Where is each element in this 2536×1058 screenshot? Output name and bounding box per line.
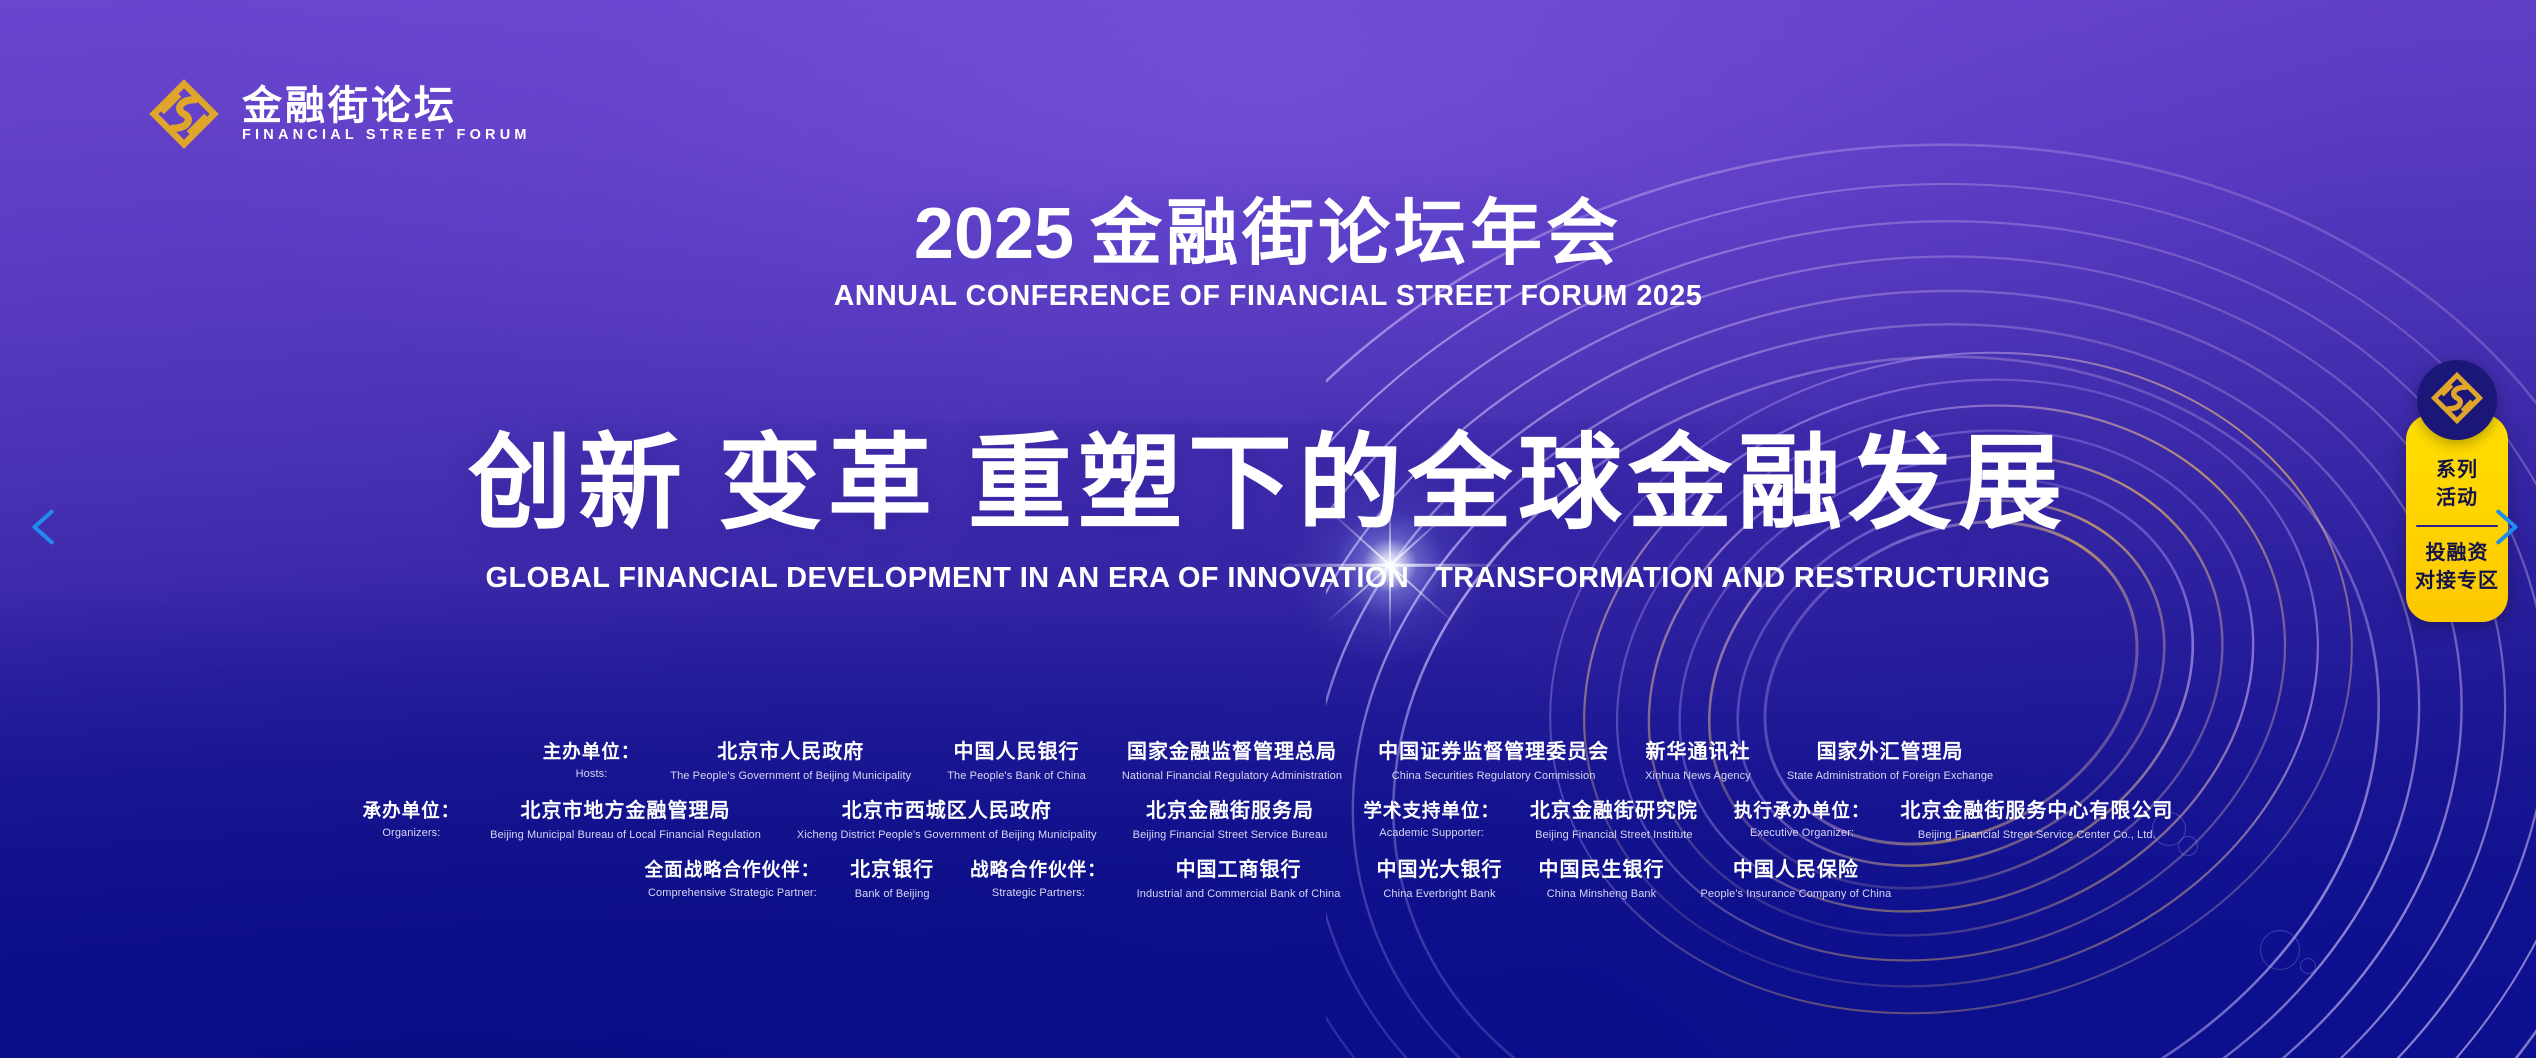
sponsor-name-en: The People's Bank of China [947,770,1086,783]
theme-en-part-2: TRANSFORMATION AND RESTRUCTURING [1435,562,2050,594]
sponsor-name-cn: 中国人民保险 [1733,858,1859,883]
sponsor-item: 国家金融监督管理总局 National Financial Regulatory… [1104,740,1360,783]
sponsor-name-cn: 全面战略合作伙伴： [645,858,821,881]
sponsor-name-cn: 中国光大银行 [1376,858,1502,883]
sponsor-name-cn: 执行承办单位： [1734,799,1871,822]
sponsor-name-en: Academic Supporter: [1379,827,1484,840]
site-logo[interactable]: 金融街论坛 FINANCIAL STREET FORUM [148,78,531,150]
theme-word-1: 创新 [468,426,688,542]
logo-name-en: FINANCIAL STREET FORUM [242,128,531,143]
sponsor-name-cn: 中国民生银行 [1538,858,1664,883]
event-year: 2025 [914,194,1074,274]
sponsor-item: 中国工商银行 Industrial and Commercial Bank of… [1119,858,1359,901]
sponsor-name-cn: 北京市西城区人民政府 [842,799,1052,824]
quicklinks-logo-badge [2417,360,2497,440]
logo-name-cn: 金融街论坛 [242,86,531,126]
sponsor-name-cn: 北京银行 [850,858,934,883]
sponsor-item: 北京市人民政府 The People's Government of Beiji… [652,740,929,783]
sponsor-name-cn: 承办单位： [363,799,461,822]
theme-en-part-1: GLOBAL FINANCIAL DEVELOPMENT IN AN ERA O… [486,562,1410,594]
sponsor-label: 承办单位： Organizers: [345,799,473,840]
sponsor-name-en: China Securities Regulatory Commission [1392,770,1596,783]
floating-quicklinks-panel[interactable]: 系列 活动 投融资 对接专区 [2406,360,2508,622]
sponsor-item: 中国人民银行 The People's Bank of China [929,740,1104,783]
sponsor-name-en: Executive Organizer: [1750,827,1854,840]
sponsor-name-cn: 学术支持单位： [1363,799,1500,822]
sponsor-name-en: Beijing Financial Street Service Bureau [1133,829,1328,842]
sponsor-name-cn: 中国人民银行 [954,740,1080,765]
sponsor-name-cn: 北京金融街服务局 [1146,799,1314,824]
theme-word-3: 重塑下的全球金融发展 [968,426,2068,542]
sponsor-item: 中国民生银行 China Minsheng Bank [1520,858,1682,901]
sponsor-name-en: Strategic Partners: [992,887,1085,900]
sponsor-item: 北京市西城区人民政府 Xicheng District People's Gov… [779,799,1115,842]
carousel-next-button[interactable] [2478,502,2532,556]
event-name-cn: 金融街论坛年会 [1090,194,1622,274]
sponsor-name-en: Beijing Financial Street Service Center … [1918,829,2156,842]
sponsor-name-cn: 北京金融街服务中心有限公司 [1900,799,2173,824]
sponsor-item: 北京市地方金融管理局 Beijing Municipal Bureau of L… [472,799,779,842]
event-title-block: 2025金融街论坛年会 ANNUAL CONFERENCE OF FINANCI… [0,196,2536,313]
sponsor-item: 北京金融街服务中心有限公司 Beijing Financial Street S… [1882,799,2191,842]
sponsor-row-hosts: 主办单位： Hosts: 北京市人民政府 The People's Govern… [0,740,2536,783]
sponsor-name-en: Industrial and Commercial Bank of China [1137,888,1341,901]
sponsor-row-partners: 全面战略合作伙伴： Comprehensive Strategic Partne… [0,858,2536,901]
sponsor-name-en: Bank of Beijing [855,888,930,901]
sponsor-name-en: State Administration of Foreign Exchange [1787,770,1993,783]
sponsor-name-en: Beijing Municipal Bureau of Local Financ… [490,829,761,842]
event-name-en: ANNUAL CONFERENCE OF FINANCIAL STREET FO… [0,280,2536,313]
sponsors-section: 主办单位： Hosts: 北京市人民政府 The People's Govern… [0,740,2536,918]
sponsor-item: 北京金融街服务局 Beijing Financial Street Servic… [1115,799,1346,842]
sponsor-name-en: Comprehensive Strategic Partner: [648,887,817,900]
sponsor-name-cn: 中国工商银行 [1176,858,1302,883]
sponsor-name-en: Beijing Financial Street Institute [1535,829,1692,842]
theme-headline-cn: 创新变革重塑下的全球金融发展 [0,425,2536,544]
sponsor-name-en: Hosts: [576,768,608,781]
quicklink-line-1: 系列 [2412,456,2502,484]
financial-street-forum-diamond-logo-icon [148,78,220,150]
sponsor-label: 主办单位： Hosts: [525,740,653,781]
sponsor-item: 中国证券监督管理委员会 China Securities Regulatory … [1360,740,1627,783]
sponsor-name-cn: 国家金融监督管理总局 [1127,740,1337,765]
sponsor-label: 全面战略合作伙伴： Comprehensive Strategic Partne… [627,858,833,899]
quicklink-line-2: 对接专区 [2412,567,2502,595]
sponsor-name-en: Organizers: [382,827,440,840]
sponsor-name-en: China Everbright Bank [1383,888,1495,901]
sponsor-label: 战略合作伙伴： Strategic Partners: [952,858,1119,899]
decorative-bubble [2260,930,2300,970]
sponsor-item: 国家外汇管理局 State Administration of Foreign … [1769,740,2011,783]
sponsor-name-cn: 新华通讯社 [1645,740,1750,765]
sponsor-name-en: The People's Government of Beijing Munic… [670,770,911,783]
event-title-line: 2025金融街论坛年会 [0,196,2536,272]
sponsor-name-en: People's Insurance Company of China [1700,888,1891,901]
sponsor-name-en: China Minsheng Bank [1547,888,1657,901]
conference-hero-banner: 金融街论坛 FINANCIAL STREET FORUM 2025金融街论坛年会… [0,0,2536,1058]
sponsor-row-organizers: 承办单位： Organizers: 北京市地方金融管理局 Beijing Mun… [0,799,2536,842]
chevron-left-icon [22,504,68,555]
sponsor-name-cn: 中国证券监督管理委员会 [1378,740,1609,765]
sponsor-name-cn: 北京市人民政府 [717,740,864,765]
sponsor-name-cn: 北京市地方金融管理局 [521,799,731,824]
theme-word-2: 变革 [718,426,938,542]
sponsor-label: 学术支持单位： Academic Supporter: [1345,799,1512,840]
financial-street-forum-diamond-logo-icon [2430,371,2484,430]
sponsor-item: 新华通讯社 Xinhua News Agency [1627,740,1769,783]
theme-block: 创新变革重塑下的全球金融发展 GLOBAL FINANCIAL DEVELOPM… [0,425,2536,595]
sponsor-label: 执行承办单位： Executive Organizer: [1716,799,1883,840]
sponsor-name-cn: 国家外汇管理局 [1817,740,1964,765]
sponsor-item: 北京银行 Bank of Beijing [832,858,952,901]
carousel-prev-button[interactable] [18,502,72,556]
chevron-right-icon [2482,504,2528,555]
sponsor-item: 北京金融街研究院 Beijing Financial Street Instit… [1512,799,1716,842]
sponsor-name-cn: 北京金融街研究院 [1530,799,1698,824]
sponsor-name-en: National Financial Regulatory Administra… [1122,770,1342,783]
sponsor-name-cn: 主办单位： [543,740,641,763]
sponsor-item: 中国人民保险 People's Insurance Company of Chi… [1682,858,1909,901]
sponsor-name-en: Xinhua News Agency [1645,770,1751,783]
decorative-bubble [2300,958,2316,974]
sponsor-name-en: Xicheng District People's Government of … [797,829,1097,842]
theme-headline-en: GLOBAL FINANCIAL DEVELOPMENT IN AN ERA O… [0,562,2536,595]
sponsor-item: 中国光大银行 China Everbright Bank [1358,858,1520,901]
sponsor-name-cn: 战略合作伙伴： [970,858,1107,881]
